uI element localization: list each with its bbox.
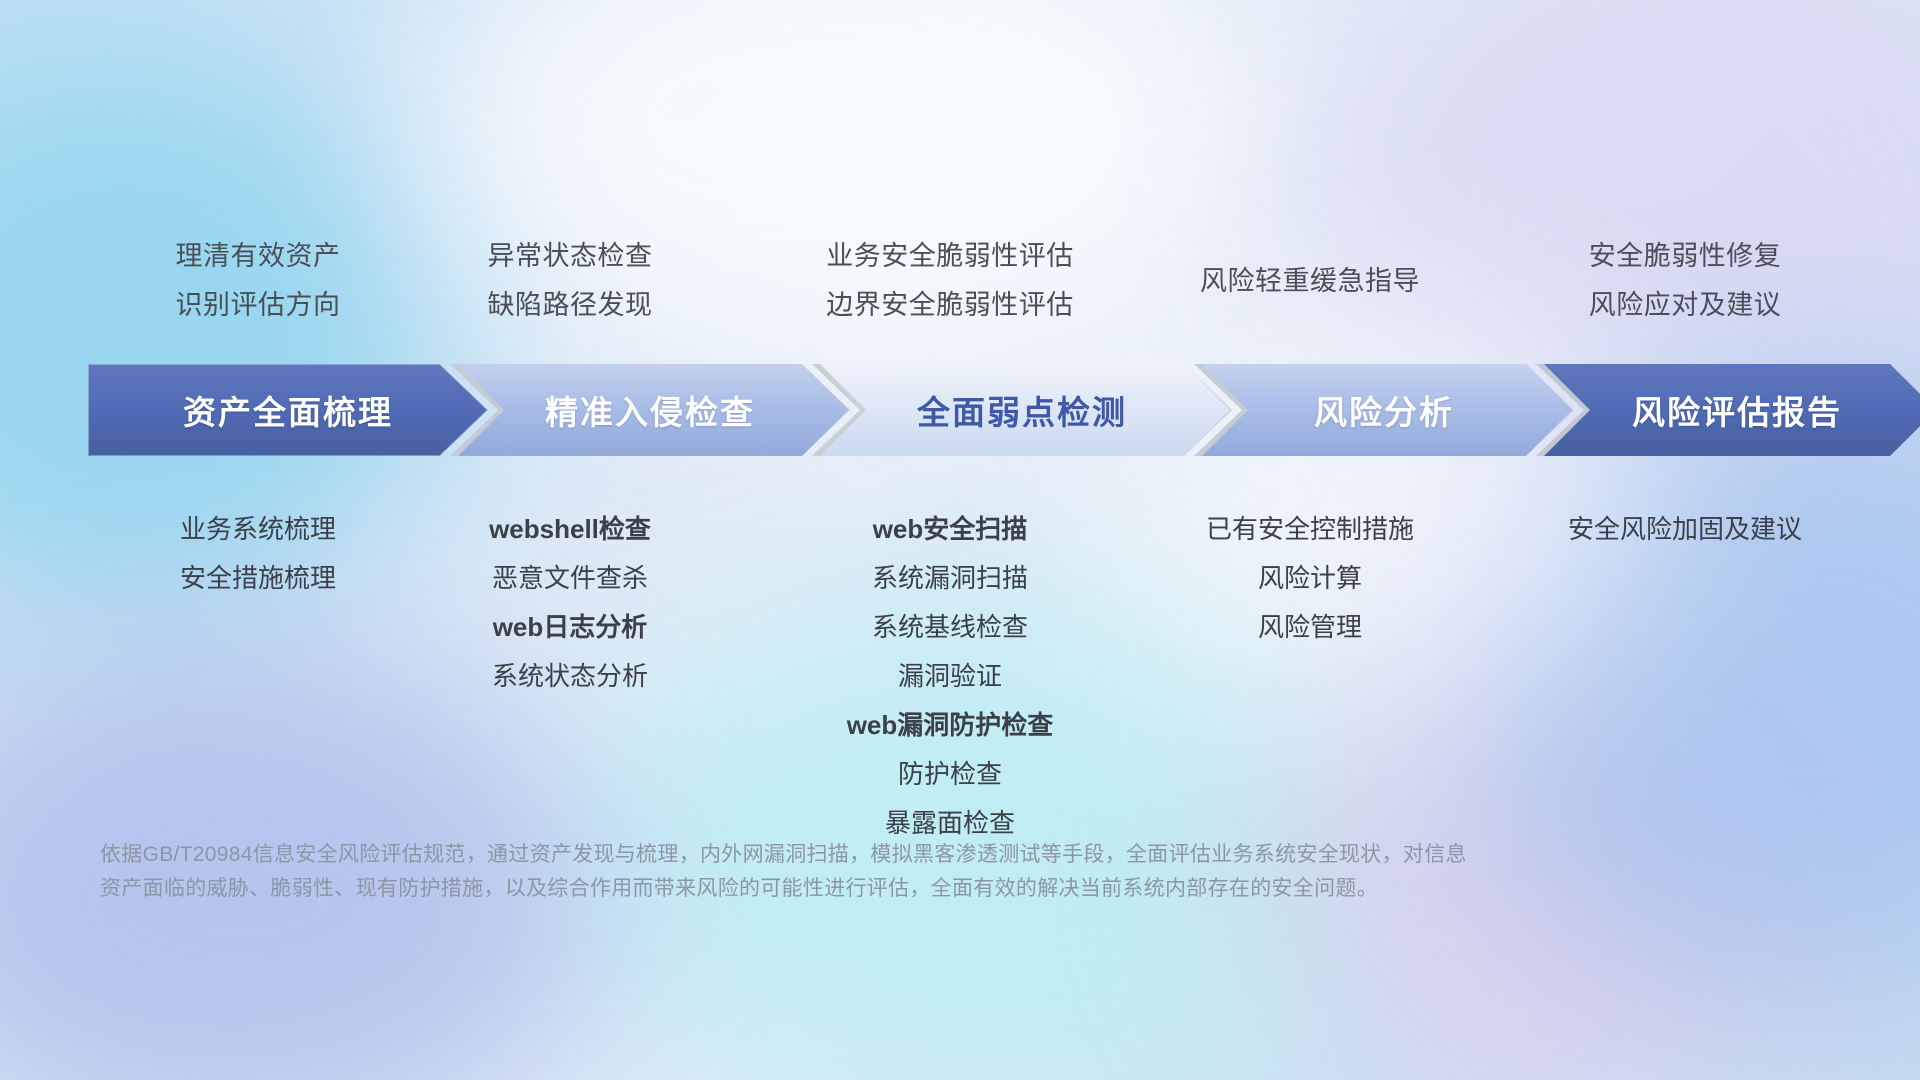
detail-item: 漏洞验证 (760, 652, 1140, 701)
top-note: 边界安全脆弱性评估 (760, 281, 1140, 330)
stage-chevron-risk-analysis[interactable]: 风险分析 (1194, 364, 1574, 456)
bottom-items-weakness-detection: web安全扫描 系统漏洞扫描 系统基线检查 漏洞验证 web漏洞防护检查 防护检… (760, 505, 1140, 848)
detail-item: 风险管理 (1125, 603, 1495, 652)
stage-label: 资产全面梳理 (183, 386, 393, 434)
footer-description: 依据GB/T20984信息安全风险评估规范，通过资产发现与梳理，内外网漏洞扫描，… (100, 838, 1660, 906)
detail-item: 系统基线检查 (760, 603, 1140, 652)
top-note: 识别评估方向 (88, 281, 428, 330)
detail-item: 防护检查 (760, 750, 1140, 799)
top-notes-asset-inventory: 理清有效资产 识别评估方向 (88, 232, 428, 330)
detail-item: 安全风险加固及建议 (1485, 505, 1885, 554)
top-note: 风险应对及建议 (1495, 281, 1875, 330)
footer-line: 依据GB/T20984信息安全风险评估规范，通过资产发现与梳理，内外网漏洞扫描，… (100, 838, 1660, 872)
bottom-items-asset-inventory: 业务系统梳理 安全措施梳理 (88, 505, 428, 603)
footer-line: 资产面临的威胁、脆弱性、现有防护措施，以及综合作用而带来风险的可能性进行评估，全… (100, 872, 1660, 906)
detail-item: 风险计算 (1125, 554, 1495, 603)
stage-chevron-assessment-report[interactable]: 风险评估报告 (1536, 364, 1920, 456)
detail-item: 恶意文件查杀 (400, 554, 740, 603)
bottom-items-assessment-report: 安全风险加固及建议 (1485, 505, 1885, 554)
top-note: 理清有效资产 (88, 232, 428, 281)
detail-item: 系统漏洞扫描 (760, 554, 1140, 603)
stage-label: 风险评估报告 (1632, 386, 1842, 434)
top-note: 缺陷路径发现 (400, 281, 740, 330)
detail-item: 系统状态分析 (400, 652, 740, 701)
top-note: 安全脆弱性修复 (1495, 232, 1875, 281)
top-note: 异常状态检查 (400, 232, 740, 281)
bottom-items-risk-analysis: 已有安全控制措施 风险计算 风险管理 (1125, 505, 1495, 652)
top-note: 业务安全脆弱性评估 (760, 232, 1140, 281)
stage-label: 风险分析 (1314, 386, 1454, 434)
detail-item: 已有安全控制措施 (1125, 505, 1495, 554)
detail-item: 业务系统梳理 (88, 505, 428, 554)
top-notes-intrusion-check: 异常状态检查 缺陷路径发现 (400, 232, 740, 330)
stage-chevron-weakness-detection[interactable]: 全面弱点检测 (812, 364, 1232, 456)
detail-item: web安全扫描 (760, 505, 1140, 554)
top-note: 风险轻重缓急指导 (1125, 257, 1495, 306)
detail-item: web漏洞防护检查 (760, 701, 1140, 750)
bottom-items-intrusion-check: webshell检查 恶意文件查杀 web日志分析 系统状态分析 (400, 505, 740, 701)
stage-label: 全面弱点检测 (917, 386, 1127, 434)
top-notes-weakness-detection: 业务安全脆弱性评估 边界安全脆弱性评估 (760, 232, 1140, 330)
stage-chevron-band: 资产全面梳理 精准入侵检查 (88, 364, 1838, 456)
top-notes-risk-analysis: 风险轻重缓急指导 (1125, 257, 1495, 306)
stage-chevron-intrusion-check[interactable]: 精准入侵检查 (450, 364, 850, 456)
detail-item: webshell检查 (400, 505, 740, 554)
top-notes-assessment-report: 安全脆弱性修复 风险应对及建议 (1495, 232, 1875, 330)
process-flow-diagram: 理清有效资产 识别评估方向 异常状态检查 缺陷路径发现 业务安全脆弱性评估 边界… (0, 0, 1920, 1080)
stage-label: 精准入侵检查 (545, 386, 755, 434)
stage-chevron-asset-inventory[interactable]: 资产全面梳理 (88, 364, 488, 456)
detail-item: 安全措施梳理 (88, 554, 428, 603)
detail-item: web日志分析 (400, 603, 740, 652)
